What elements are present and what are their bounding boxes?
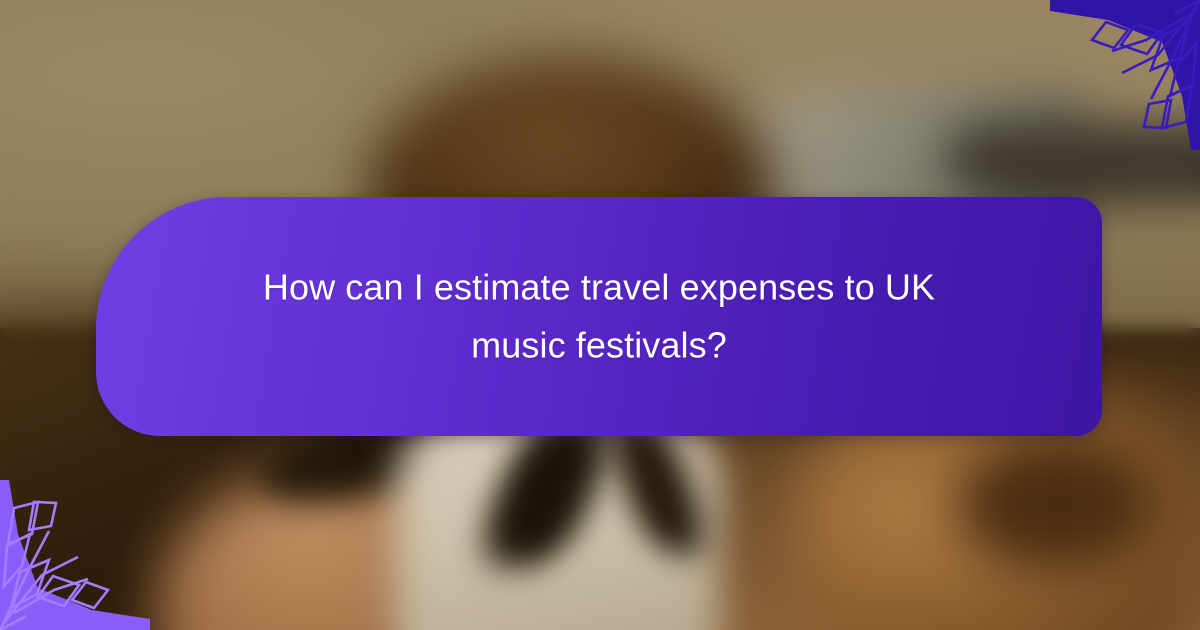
headline-banner: How can I estimate travel expenses to UK… xyxy=(96,197,1102,436)
social-card-canvas: How can I estimate travel expenses to UK… xyxy=(0,0,1200,630)
headline-line-1: How can I estimate travel expenses to UK xyxy=(186,258,1012,316)
background-right-shadow xyxy=(960,441,1152,567)
background-object-right-dark xyxy=(948,120,1200,202)
headline-line-2: music festivals? xyxy=(186,317,1012,375)
headline-text: How can I estimate travel expenses to UK… xyxy=(96,258,1102,375)
